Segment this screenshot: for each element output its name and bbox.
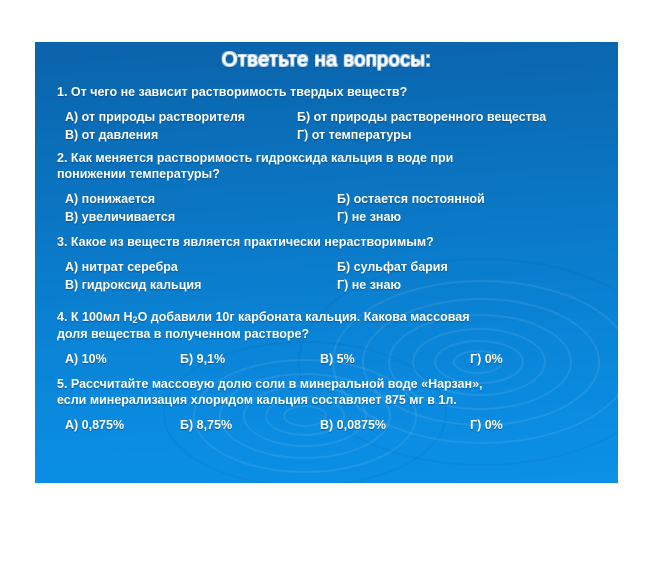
option-5-g[interactable]: Г) 0% <box>462 417 609 434</box>
option-5-a[interactable]: А) 0,875% <box>57 417 172 434</box>
question-text-4-line2: доля вещества в полученном растворе? <box>57 326 609 342</box>
option-1-v[interactable]: В) от давления <box>57 127 289 144</box>
question-text-3: 3. Какое из веществ является практически… <box>57 234 609 250</box>
options-1: А) от природы растворителя Б) от природы… <box>57 109 609 144</box>
option-3-g[interactable]: Г) не знаю <box>329 277 609 294</box>
option-5-b[interactable]: Б) 8,75% <box>172 417 312 434</box>
question-text-5-line2: если минерализация хлоридом кальция сост… <box>57 392 609 408</box>
option-3-a[interactable]: А) нитрат серебра <box>57 259 329 276</box>
question-text-1: 1. От чего не зависит растворимость твер… <box>57 84 609 100</box>
page-title: Ответьте на вопросы: <box>35 49 618 72</box>
options-3: А) нитрат серебра Б) сульфат бария В) ги… <box>57 259 609 294</box>
options-4: А) 10% Б) 9,1% В) 5% Г) 0% <box>57 351 609 368</box>
question-block-4: 4. К 100мл H2O добавили 10г карбоната ка… <box>57 309 609 368</box>
slide-stage: Ответьте на вопросы: 1. От чего не завис… <box>0 0 646 573</box>
question-text-2-line1: 2. Как меняется растворимость гидроксида… <box>57 150 609 166</box>
option-4-v[interactable]: В) 5% <box>312 351 462 368</box>
option-2-b[interactable]: Б) остается постоянной <box>329 191 609 208</box>
option-3-b[interactable]: Б) сульфат бария <box>329 259 609 276</box>
option-2-g[interactable]: Г) не знаю <box>329 209 609 226</box>
presentation-slide: Ответьте на вопросы: 1. От чего не завис… <box>35 42 618 483</box>
slide-content: Ответьте на вопросы: 1. От чего не завис… <box>35 42 618 483</box>
option-4-g[interactable]: Г) 0% <box>462 351 609 368</box>
question-text-5-line1: 5. Рассчитайте массовую долю соли в мине… <box>57 376 609 392</box>
option-1-a[interactable]: А) от природы растворителя <box>57 109 289 126</box>
question-text-4-post: O добавили 10г карбоната кальция. Какова… <box>138 310 470 324</box>
options-2: А) понижается Б) остается постоянной В) … <box>57 191 609 226</box>
option-3-v[interactable]: В) гидроксид кальция <box>57 277 329 294</box>
option-1-b[interactable]: Б) от природы растворенного вещества <box>289 109 609 126</box>
question-block-3: 3. Какое из веществ является практически… <box>57 234 609 294</box>
subscript-2: 2 <box>133 315 138 325</box>
question-block-2: 2. Как меняется растворимость гидроксида… <box>57 150 609 226</box>
option-1-g[interactable]: Г) от температуры <box>289 127 609 144</box>
option-2-a[interactable]: А) понижается <box>57 191 329 208</box>
option-4-a[interactable]: А) 10% <box>57 351 172 368</box>
question-block-5: 5. Рассчитайте массовую долю соли в мине… <box>57 376 609 434</box>
option-2-v[interactable]: В) увеличивается <box>57 209 329 226</box>
question-text-4-line1: 4. К 100мл H2O добавили 10г карбоната ка… <box>57 309 609 326</box>
option-4-b[interactable]: Б) 9,1% <box>172 351 312 368</box>
option-5-v[interactable]: В) 0,0875% <box>312 417 462 434</box>
question-text-4-pre: 4. К 100мл H <box>57 310 133 324</box>
options-5: А) 0,875% Б) 8,75% В) 0,0875% Г) 0% <box>57 417 609 434</box>
question-block-1: 1. От чего не зависит растворимость твер… <box>57 84 609 144</box>
question-text-2-line2: понижении температуры? <box>57 166 609 182</box>
